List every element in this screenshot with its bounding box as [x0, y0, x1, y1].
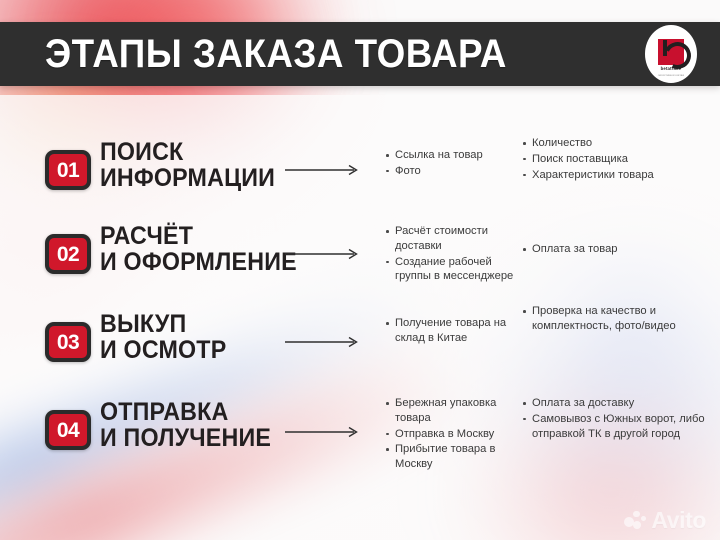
- list-item: Получение товара на склад в Китае: [385, 316, 522, 346]
- step-details-column-right: Количество Поиск поставщика Характеристи…: [522, 112, 715, 183]
- list-item: Количество: [522, 136, 715, 151]
- bullet-list: Оплата за доставку Самовывоз с Южных вор…: [522, 396, 715, 441]
- list-item: Расчёт стоимости доставки: [385, 224, 522, 254]
- step-badge-03: 03: [45, 322, 91, 362]
- list-item: Поиск поставщика: [522, 152, 715, 167]
- company-logo: betatrade логистика из китая: [645, 25, 697, 83]
- list-item: Фото: [385, 164, 522, 179]
- step-details-column-left: Ссылка на товар Фото: [385, 112, 522, 183]
- logo-mark-icon: betatrade логистика из китая: [656, 39, 686, 69]
- step-details: Бережная упаковка товара Отправка в Моск…: [385, 380, 715, 473]
- flow-arrow-icon: [285, 248, 359, 260]
- avito-dots-icon: [624, 511, 646, 531]
- step-badge-inner: 02: [49, 238, 87, 270]
- step-title: ПОИСК ИНФОРМАЦИИ: [100, 140, 275, 191]
- step-details-column-right: Оплата за доставку Самовывоз с Южных вор…: [522, 380, 715, 473]
- step-badge-02: 02: [45, 234, 91, 274]
- step-badge-inner: 01: [49, 154, 87, 186]
- step-title-line1: ОТПРАВКА: [100, 400, 271, 426]
- avito-watermark: Avito: [624, 509, 706, 532]
- bullet-list: Оплата за товар: [522, 242, 715, 257]
- step-details: Получение товара на склад в Китае Провер…: [385, 292, 715, 347]
- step-row: 02 РАСЧЁТ И ОФОРМЛЕНИЕ Расчёт стоимости …: [0, 202, 720, 292]
- step-badge-frame: 01: [45, 150, 91, 190]
- bullet-list: Получение товара на склад в Китае: [385, 316, 522, 346]
- bullet-list: Количество Поиск поставщика Характеристи…: [522, 136, 715, 182]
- step-badge-frame: 03: [45, 322, 91, 362]
- list-item: Отправка в Москву: [385, 427, 522, 442]
- list-item: Создание рабочей группы в мессенджере: [385, 255, 522, 285]
- flow-arrow-icon: [285, 426, 359, 438]
- avito-wordmark: Avito: [651, 509, 706, 532]
- list-item: Оплата за товар: [522, 242, 715, 257]
- list-item: Оплата за доставку: [522, 396, 715, 411]
- step-title-line2: И ОСМОТР: [100, 338, 226, 364]
- step-details: Ссылка на товар Фото Количество Поиск по…: [385, 112, 715, 183]
- step-title-line2: И ОФОРМЛЕНИЕ: [100, 250, 297, 276]
- poster-canvas: ЭТАПЫ ЗАКАЗА ТОВАРА betatrade логистика …: [0, 0, 720, 540]
- page-title: ЭТАПЫ ЗАКАЗА ТОВАРА: [45, 34, 507, 74]
- step-number: 02: [57, 244, 79, 265]
- step-title-line2: ИНФОРМАЦИИ: [100, 166, 275, 192]
- step-details-column-left: Бережная упаковка товара Отправка в Моск…: [385, 380, 522, 473]
- bullet-list: Бережная упаковка товара Отправка в Моск…: [385, 396, 522, 472]
- list-item: Ссылка на товар: [385, 148, 522, 163]
- bullet-list: Проверка на качество и комплектность, фо…: [522, 304, 715, 334]
- step-row: 01 ПОИСК ИНФОРМАЦИИ Ссылка на товар Фо: [0, 112, 720, 202]
- bullet-list: Ссылка на товар Фото: [385, 148, 522, 179]
- step-badge-inner: 03: [49, 326, 87, 358]
- step-title-line1: ПОИСК: [100, 140, 275, 166]
- step-row: 03 ВЫКУП И ОСМОТР Получение товара на ск…: [0, 292, 720, 380]
- step-details-column-left: Получение товара на склад в Китае: [385, 292, 522, 347]
- step-row: 04 ОТПРАВКА И ПОЛУЧЕНИЕ Бережная упаковк…: [0, 380, 720, 475]
- title-banner: ЭТАПЫ ЗАКАЗА ТОВАРА betatrade логистика …: [0, 22, 720, 86]
- step-details-column-right: Проверка на качество и комплектность, фо…: [522, 292, 715, 347]
- step-badge-frame: 04: [45, 410, 91, 450]
- step-title: РАСЧЁТ И ОФОРМЛЕНИЕ: [100, 224, 297, 275]
- step-title-line2: И ПОЛУЧЕНИЕ: [100, 426, 271, 452]
- list-item: Проверка на качество и комплектность, фо…: [522, 304, 715, 334]
- step-number: 01: [57, 160, 79, 181]
- step-details-column-right: Оплата за товар: [522, 202, 715, 285]
- step-badge-04: 04: [45, 410, 91, 450]
- list-item: Бережная упаковка товара: [385, 396, 522, 426]
- step-title-line1: ВЫКУП: [100, 312, 226, 338]
- step-title-line1: РАСЧЁТ: [100, 224, 297, 250]
- step-details-column-left: Расчёт стоимости доставки Создание рабоч…: [385, 202, 522, 285]
- logo-wordmark: betatrade: [656, 66, 686, 71]
- step-number: 04: [57, 420, 79, 441]
- flow-arrow-icon: [285, 336, 359, 348]
- step-badge-inner: 04: [49, 414, 87, 446]
- step-title: ОТПРАВКА И ПОЛУЧЕНИЕ: [100, 400, 271, 451]
- step-badge-frame: 02: [45, 234, 91, 274]
- logo-subtitle: логистика из китая: [656, 73, 686, 77]
- step-number: 03: [57, 332, 79, 353]
- list-item: Характеристики товара: [522, 168, 715, 183]
- bullet-list: Расчёт стоимости доставки Создание рабоч…: [385, 224, 522, 284]
- flow-arrow-icon: [285, 164, 359, 176]
- step-title: ВЫКУП И ОСМОТР: [100, 312, 226, 363]
- list-item: Прибытие товара в Москву: [385, 442, 522, 472]
- step-details: Расчёт стоимости доставки Создание рабоч…: [385, 202, 715, 285]
- steps-list: 01 ПОИСК ИНФОРМАЦИИ Ссылка на товар Фо: [0, 112, 720, 475]
- step-badge-01: 01: [45, 150, 91, 190]
- list-item: Самовывоз с Южных ворот, либо отправкой …: [522, 412, 715, 442]
